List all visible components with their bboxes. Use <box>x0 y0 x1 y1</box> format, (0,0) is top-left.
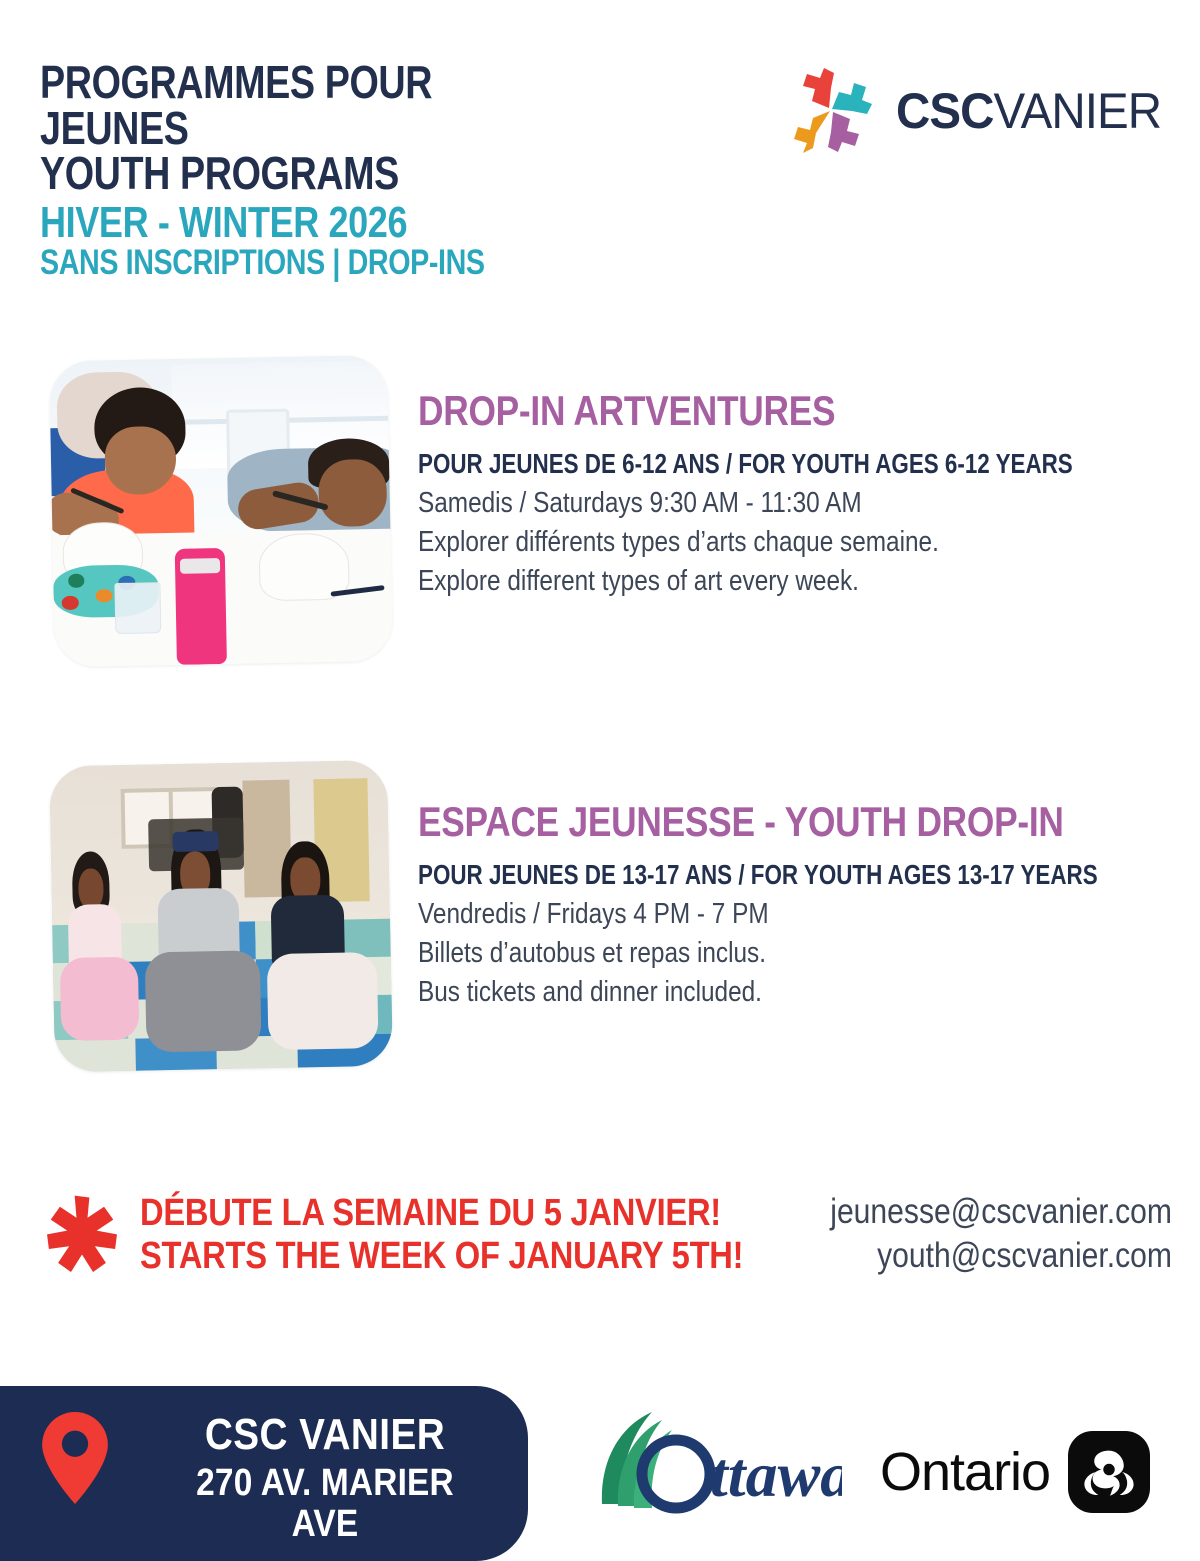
footer-address-block: CSC VANIER 270 AV. MARIER AVE <box>150 1412 500 1546</box>
program-block-espace-jeunesse: ESPACE JEUNESSE - YOUTH DROP-IN POUR JEU… <box>0 763 1200 1073</box>
ontario-trillium-icon <box>1068 1431 1150 1513</box>
program-title: ESPACE JEUNESSE - YOUTH DROP-IN <box>418 801 1040 844</box>
svg-text:ttawa: ttawa <box>710 1439 842 1510</box>
city-of-ottawa-logo: ttawa <box>592 1408 842 1528</box>
program-schedule: Samedis / Saturdays 9:30 AM - 11:30 AM <box>418 484 1040 523</box>
program-details-espace-jeunesse: ESPACE JEUNESSE - YOUTH DROP-IN POUR JEU… <box>418 801 1158 1012</box>
contact-emails: jeunesse@cscvanier.com youth@cscvanier.c… <box>760 1190 1172 1278</box>
header-season: HIVER - WINTER 2026 <box>40 201 548 245</box>
program-age-range: POUR JEUNES DE 13-17 ANS / FOR YOUTH AGE… <box>418 860 1010 889</box>
program-description-fr: Explorer différents types d’arts chaque … <box>418 523 1040 562</box>
footer-org-name: CSC VANIER <box>171 1412 479 1459</box>
teens-sitting-on-mat-photo <box>49 760 393 1072</box>
start-notice: DÉBUTE LA SEMAINE DU 5 JANVIER! STARTS T… <box>140 1192 760 1277</box>
program-schedule: Vendredis / Fridays 4 PM - 7 PM <box>418 895 1040 934</box>
poster-canvas: PROGRAMMES POUR JEUNES YOUTH PROGRAMS HI… <box>0 0 1200 1553</box>
start-notice-en: STARTS THE WEEK OF JANUARY 5TH! <box>140 1235 673 1278</box>
csc-vanier-logo: CSCVANIER <box>782 56 1152 166</box>
start-notice-fr: DÉBUTE LA SEMAINE DU 5 JANVIER! <box>140 1192 673 1235</box>
program-description-en: Bus tickets and dinner included. <box>418 973 1040 1012</box>
ontario-wordmark: Ontario <box>880 1445 1050 1499</box>
csc-vanier-wordmark: CSCVANIER <box>896 86 1161 136</box>
header-subtitle: SANS INSCRIPTIONS | DROP-INS <box>40 246 548 281</box>
asterisk-icon <box>36 1192 128 1284</box>
program-title: DROP-IN ARTVENTURES <box>418 390 1040 433</box>
header-title-fr: PROGRAMMES POUR JEUNES <box>40 60 548 151</box>
program-block-artventures: DROP-IN ARTVENTURES POUR JEUNES DE 6-12 … <box>0 358 1200 668</box>
program-age-range: POUR JEUNES DE 6-12 ANS / FOR YOUTH AGES… <box>418 449 1010 478</box>
map-pin-icon <box>42 1412 108 1504</box>
footer-street-address: 270 AV. MARIER AVE <box>171 1463 479 1547</box>
logo-text-vanier: VANIER <box>993 83 1161 139</box>
program-details-artventures: DROP-IN ARTVENTURES POUR JEUNES DE 6-12 … <box>418 390 1158 601</box>
header-title-en: YOUTH PROGRAMS <box>40 151 548 197</box>
program-description-en: Explore different types of art every wee… <box>418 562 1040 601</box>
program-description-fr: Billets d’autobus et repas inclus. <box>418 934 1040 973</box>
email-link-youth[interactable]: youth@cscvanier.com <box>818 1234 1172 1278</box>
poster-header: PROGRAMMES POUR JEUNES YOUTH PROGRAMS HI… <box>40 60 660 281</box>
logo-text-csc: CSC <box>896 83 993 139</box>
csc-pinwheel-icon <box>782 61 882 161</box>
government-of-ontario-logo: Ontario <box>880 1424 1150 1520</box>
kids-painting-ceramics-photo <box>49 355 393 667</box>
email-link-jeunesse[interactable]: jeunesse@cscvanier.com <box>818 1190 1172 1234</box>
